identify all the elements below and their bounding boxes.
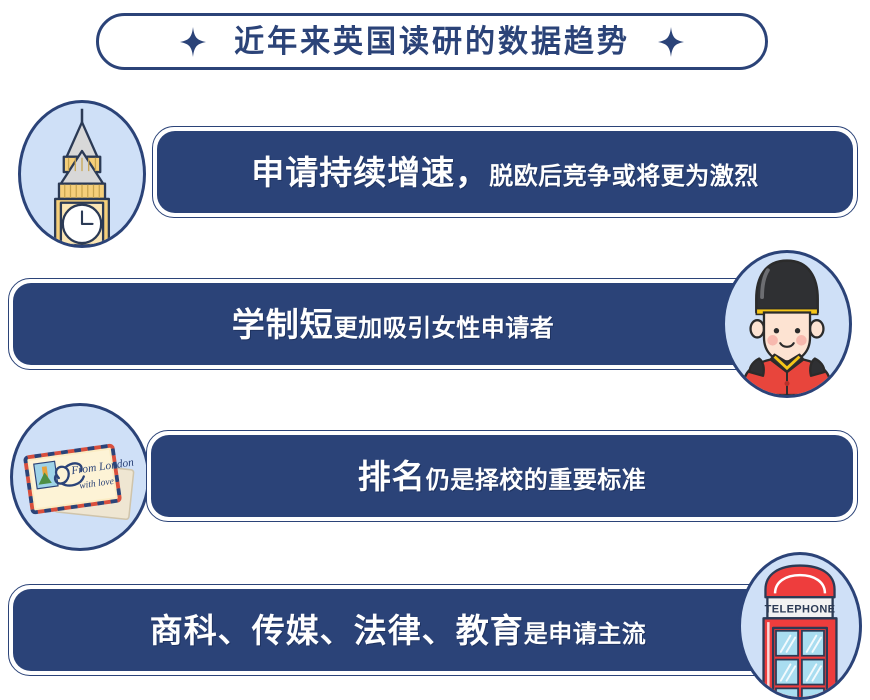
fact-bar: 申请持续增速，脱欧后竞争或将更为激烈 xyxy=(152,126,858,218)
fact-row: 申请持续增速，脱欧后竞争或将更为激烈 xyxy=(0,100,870,240)
booth-sign-text: TELEPHONE xyxy=(765,604,836,616)
airmail-envelope-icon: From London with love xyxy=(10,403,150,551)
page-title: 近年来英国读研的数据趋势 xyxy=(234,26,630,57)
fact-text-secondary: 更加吸引女性申请者 xyxy=(334,317,555,341)
fact-text-primary: 排名 xyxy=(358,460,426,493)
fact-bar-fill: 学制短更加吸引女性申请者 xyxy=(13,283,773,365)
fact-text: 商科、传媒、法律、教育是申请主流 xyxy=(150,614,647,647)
fact-row: 商科、传媒、法律、教育是申请主流 TELEPHONE xyxy=(0,556,870,696)
fact-text: 学制短更加吸引女性申请者 xyxy=(232,308,555,341)
fact-bar-fill: 商科、传媒、法律、教育是申请主流 xyxy=(13,589,783,671)
fact-text-primary: 商科、传媒、法律、教育 xyxy=(150,614,524,647)
fact-bar: 学制短更加吸引女性申请者 xyxy=(8,278,778,370)
fact-row: 学制短更加吸引女性申请者 xyxy=(0,252,870,392)
fact-text-secondary: 仍是择校的重要标准 xyxy=(426,469,647,493)
telephone-booth-icon: TELEPHONE xyxy=(738,552,862,700)
fact-text-primary: 学制短 xyxy=(232,308,334,341)
fact-text-secondary: 是申请主流 xyxy=(524,623,647,647)
sparkle-icon xyxy=(180,27,206,57)
royal-guard-icon xyxy=(722,250,852,398)
sparkle-icon xyxy=(658,27,684,57)
fact-text: 申请持续增速，脱欧后竞争或将更为激烈 xyxy=(251,156,759,189)
fact-row: From London with love 排名仍是择校的重要标准 xyxy=(0,404,870,544)
fact-bar: 排名仍是择校的重要标准 xyxy=(146,430,858,522)
fact-text-secondary: 脱欧后竞争或将更为激烈 xyxy=(489,165,759,189)
page-title-banner: 近年来英国读研的数据趋势 xyxy=(96,13,768,70)
fact-bar: 商科、传媒、法律、教育是申请主流 xyxy=(8,584,788,676)
fact-text-primary: 申请持续增速， xyxy=(251,156,489,189)
big-ben-icon xyxy=(18,100,146,248)
fact-bar-fill: 排名仍是择校的重要标准 xyxy=(151,435,853,517)
fact-bar-fill: 申请持续增速，脱欧后竞争或将更为激烈 xyxy=(157,131,853,213)
fact-text: 排名仍是择校的重要标准 xyxy=(358,460,647,493)
